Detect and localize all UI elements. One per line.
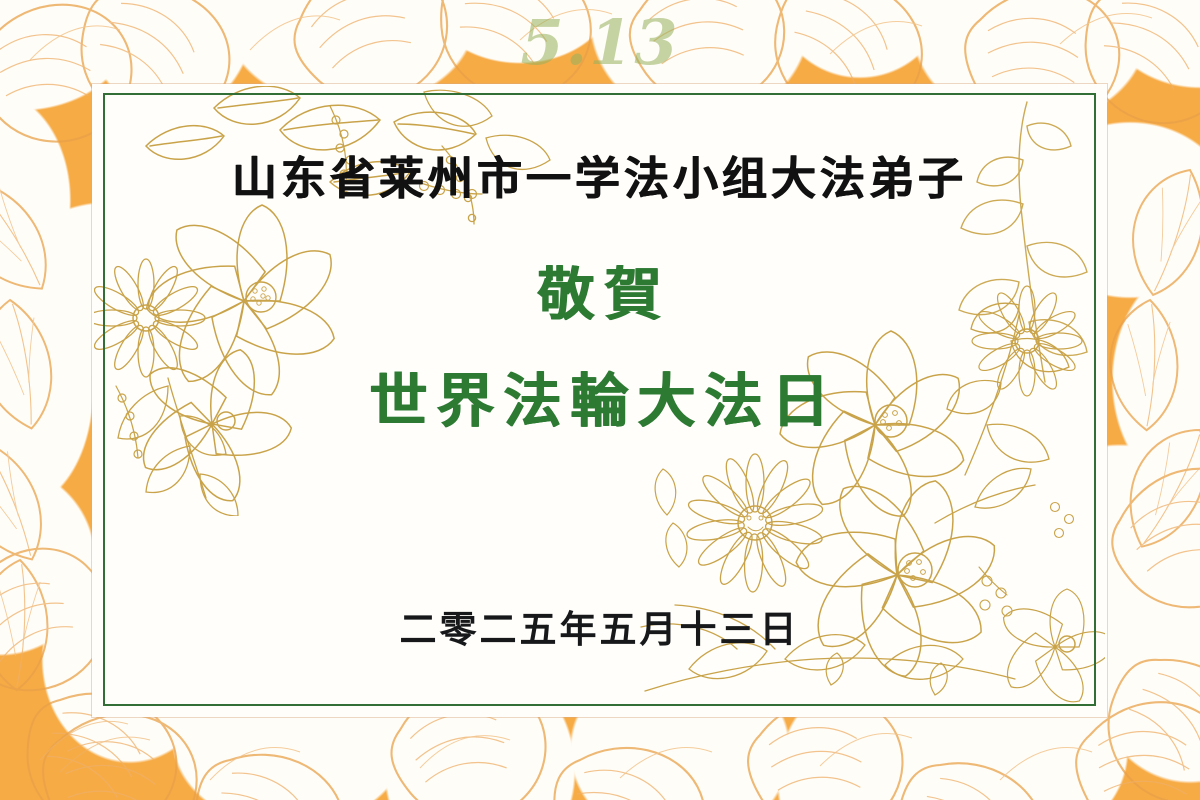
greeting-card-page: 5.13 [0,0,1200,800]
card-text-block: 山东省莱州市一学法小组大法弟子 敬賀 世界法輪大法日 二零二五年五月十三日 [92,84,1107,717]
occasion-line: 世界法輪大法日 [92,354,1107,438]
greeting-card: 山东省莱州市一学法小组大法弟子 敬賀 世界法輪大法日 二零二五年五月十三日 [92,84,1107,717]
salutation-line: 敬賀 [92,249,1107,331]
date-line: 二零二五年五月十三日 [92,599,1107,653]
organization-line: 山东省莱州市一学法小组大法弟子 [92,142,1107,207]
